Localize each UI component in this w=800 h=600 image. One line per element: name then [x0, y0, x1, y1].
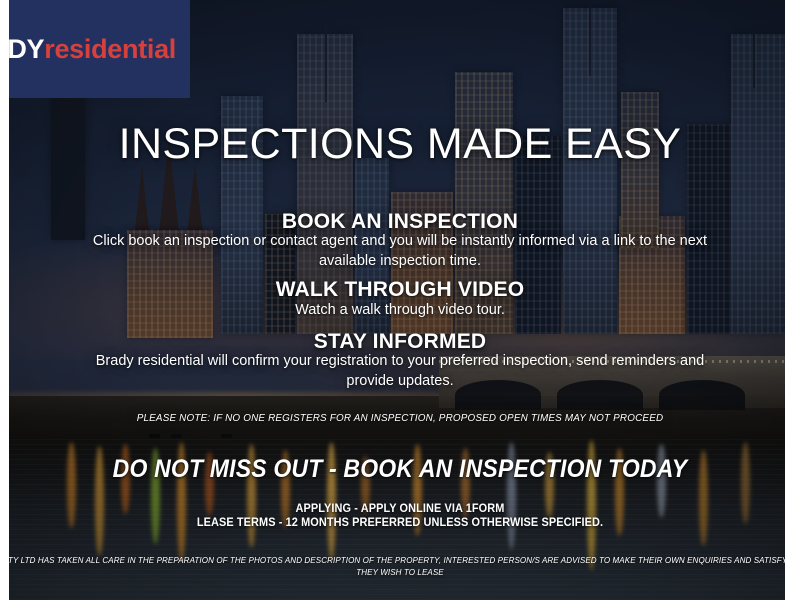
legal-disclaimer-line-2: THEY WISH TO LEASE	[8, 567, 792, 579]
lease-terms-text: LEASE TERMS - 12 MONTHS PREFERRED UNLESS…	[20, 517, 780, 529]
section-heading-book-an-inspection: BOOK AN INSPECTION	[0, 210, 800, 234]
logo-wordmark: DYresidential	[9, 36, 176, 63]
page-title: INSPECTIONS MADE EASY	[0, 120, 800, 169]
please-note-text: PLEASE NOTE: IF NO ONE REGISTERS FOR AN …	[24, 412, 776, 424]
brady-residential-logo[interactable]: DYresidential	[9, 0, 190, 98]
call-to-action-text: DO NOT MISS OUT - BOOK AN INSPECTION TOD…	[32, 455, 768, 484]
left-edge-margin	[0, 0, 9, 600]
section-body-stay-informed: Brady residential will confirm your regi…	[0, 352, 800, 391]
logo-brand-text: DY	[9, 34, 44, 64]
promotional-flyer: INSPECTIONS MADE EASY BOOK AN INSPECTION…	[0, 0, 800, 600]
logo-sub-text: residential	[44, 34, 176, 64]
right-edge-margin	[785, 0, 800, 600]
section-body-book-an-inspection: Click book an inspection or contact agen…	[0, 232, 800, 271]
section-heading-stay-informed: STAY INFORMED	[0, 330, 800, 354]
legal-disclaimer-line-1: TY LTD HAS TAKEN ALL CARE IN THE PREPARA…	[8, 556, 800, 565]
legal-disclaimer: TY LTD HAS TAKEN ALL CARE IN THE PREPARA…	[8, 555, 792, 579]
applying-terms-text: APPLYING - APPLY ONLINE VIA 1FORM	[20, 503, 780, 515]
section-body-walk-through-video: Watch a walk through video tour.	[0, 301, 800, 321]
section-heading-walk-through-video: WALK THROUGH VIDEO	[0, 278, 800, 302]
